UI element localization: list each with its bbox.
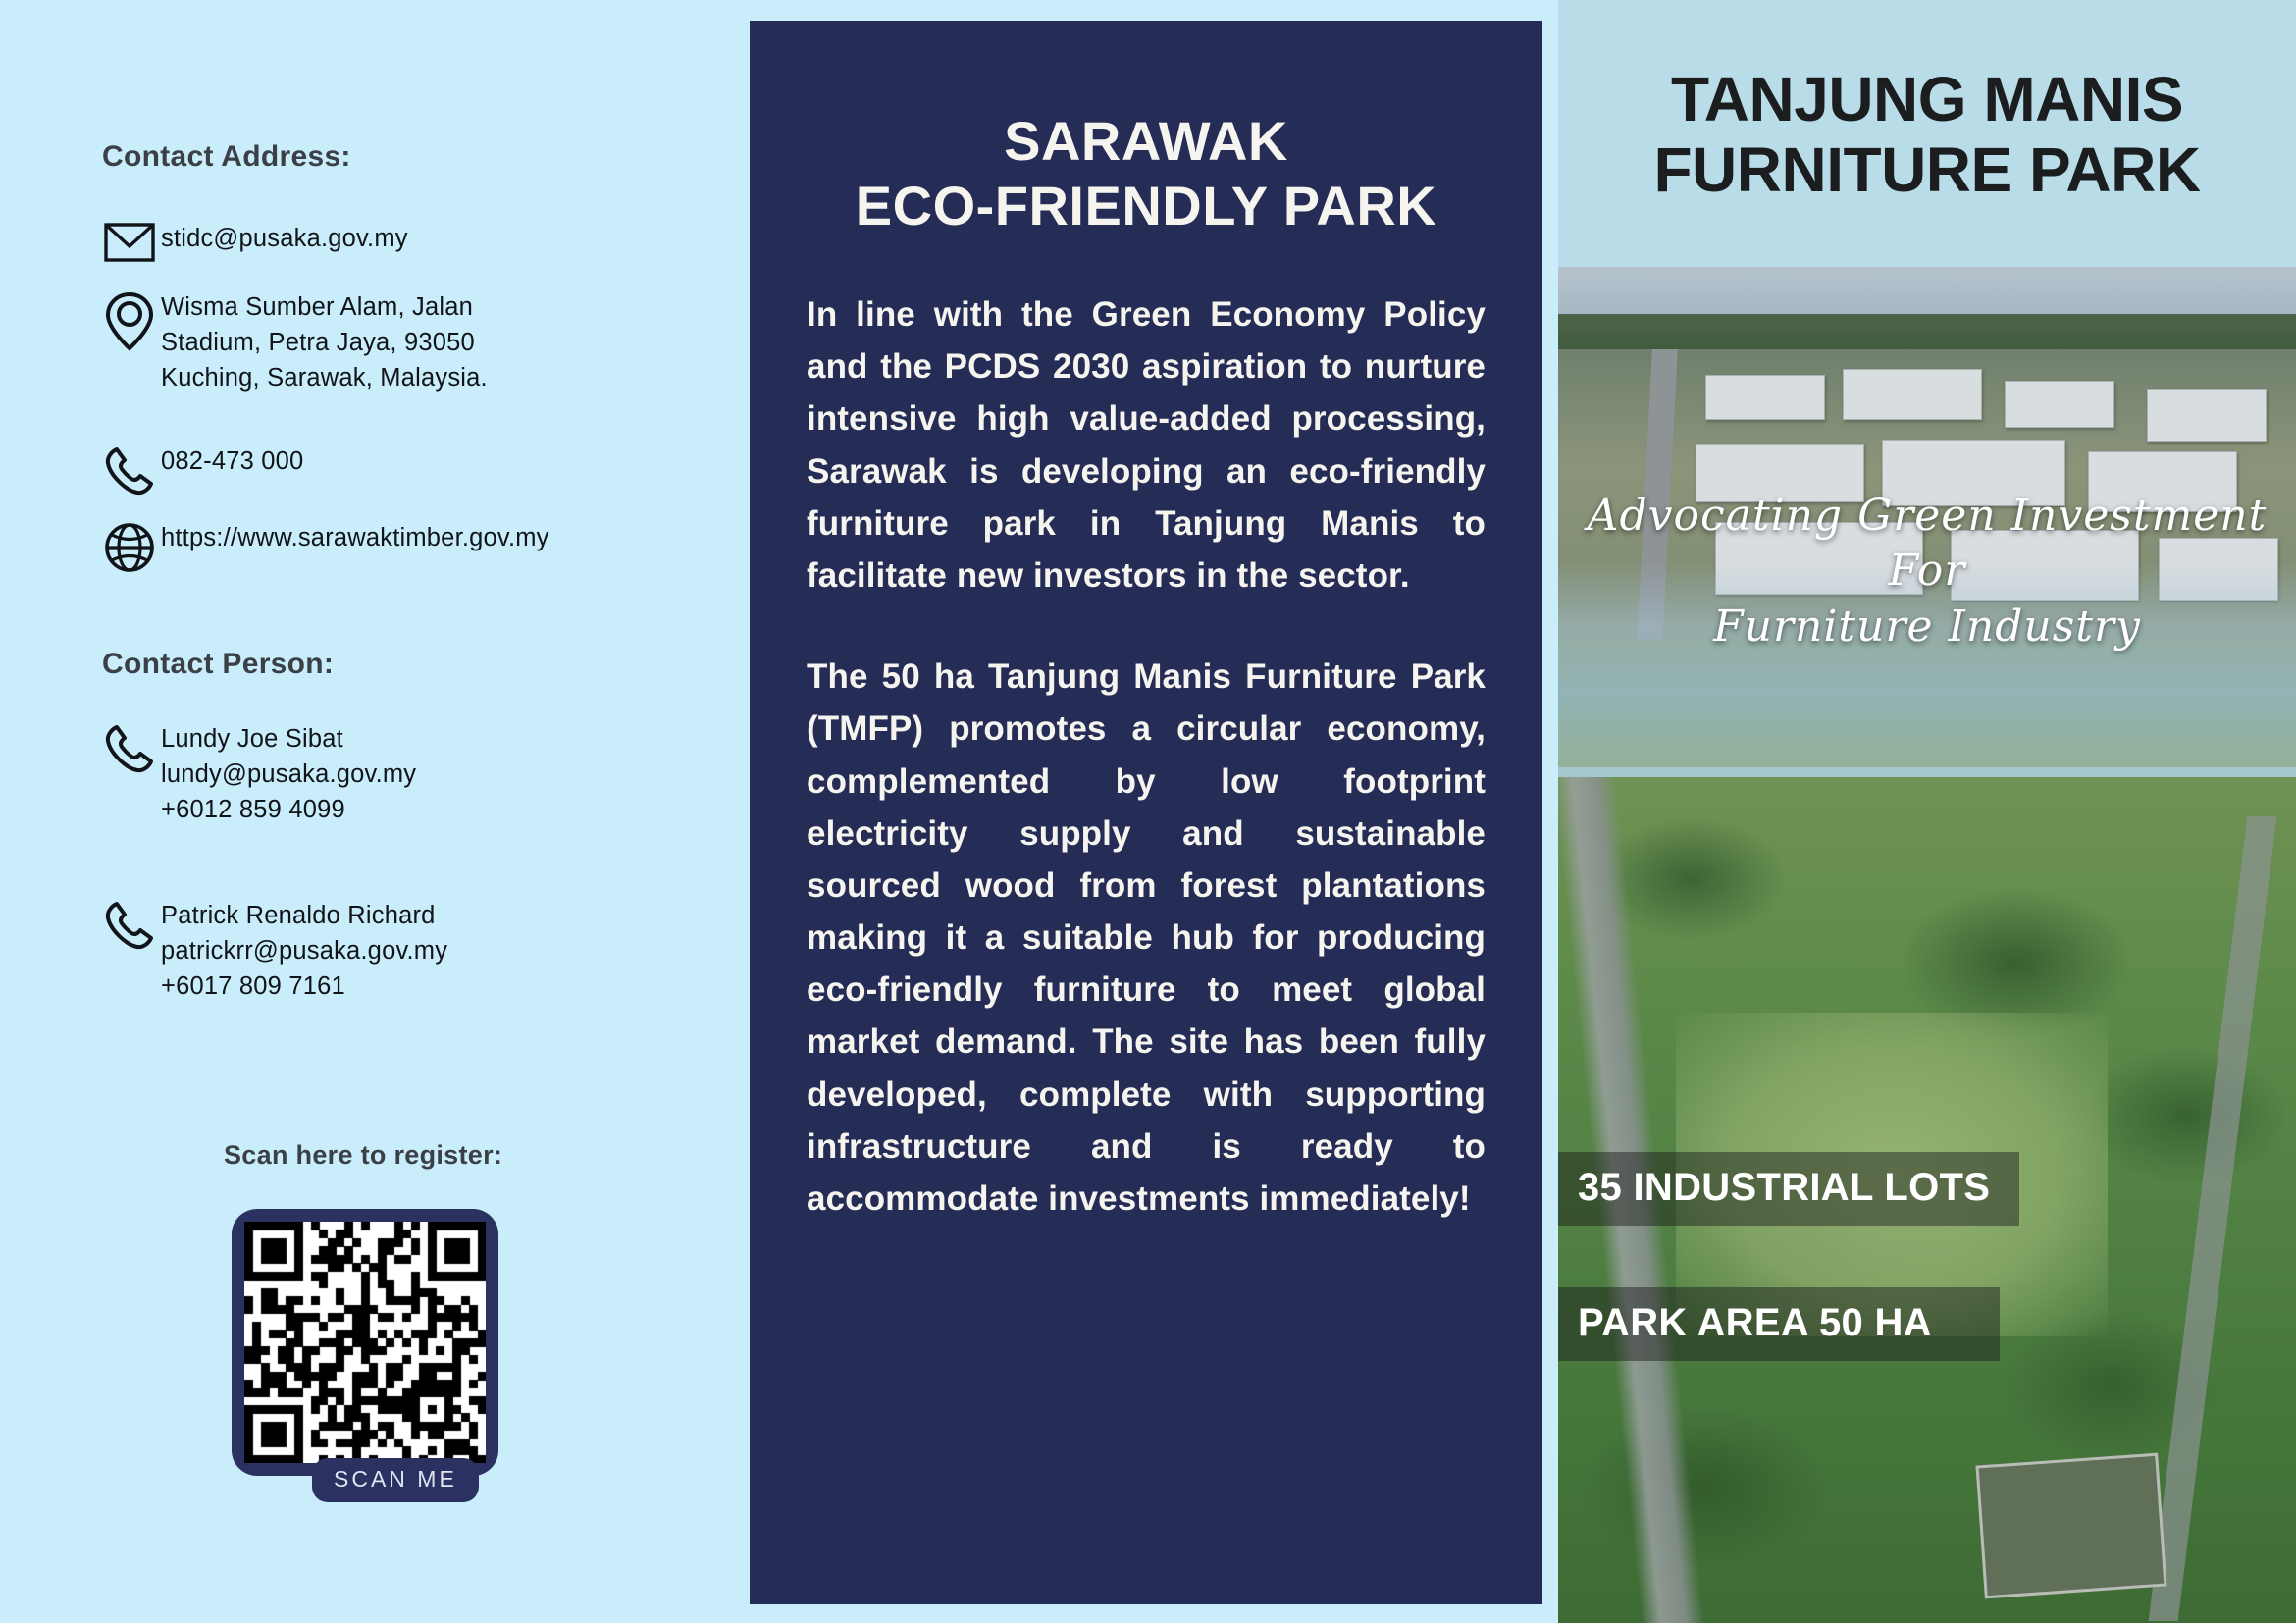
email-address-text[interactable]: stidc@pusaka.gov.my	[161, 221, 408, 256]
phone-icon	[98, 898, 161, 951]
brochure-page: Contact Address: stidc@pusaka.gov.my Wis…	[0, 0, 2296, 1623]
industrial-lots-badge: 35 INDUSTRIAL LOTS	[1558, 1152, 2019, 1226]
cover-title-line-2: FURNITURE PARK	[1558, 135, 2296, 206]
phone-icon	[98, 444, 161, 497]
tagline: Advocating Green Investment For Furnitur…	[1558, 489, 2296, 654]
qr-code-image[interactable]	[244, 1222, 486, 1463]
person-2-email[interactable]: patrickrr@pusaka.gov.my	[161, 933, 447, 969]
cover-title: TANJUNG MANIS FURNITURE PARK	[1558, 65, 2296, 205]
cover-title-line-1: TANJUNG MANIS	[1671, 64, 2183, 134]
cover-panel: TANJUNG MANIS FURNITURE PARK	[1558, 0, 2296, 1623]
contact-person-2-details: Patrick Renaldo Richard patrickrr@pusaka…	[161, 898, 447, 1005]
contact-row-address: Wisma Sumber Alam, Jalan Stadium, Petra …	[98, 289, 706, 432]
tagline-line-1: Advocating Green Investment For	[1588, 491, 2268, 596]
contact-person-2: Patrick Renaldo Richard patrickrr@pusaka…	[98, 898, 706, 1005]
middle-paragraph-2: The 50 ha Tanjung Manis Furniture Park (…	[807, 651, 1486, 1225]
contact-panel: Contact Address: stidc@pusaka.gov.my Wis…	[0, 0, 750, 1623]
envelope-icon	[98, 221, 161, 262]
contact-row-phone: 082-473 000	[98, 444, 687, 497]
contact-person-heading: Contact Person:	[102, 648, 334, 681]
globe-icon	[98, 520, 161, 573]
park-area-badge: PARK AREA 50 HA	[1558, 1287, 2000, 1361]
address-line-2: Stadium, Petra Jaya, 93050	[161, 325, 632, 360]
address-text: Wisma Sumber Alam, Jalan Stadium, Petra …	[161, 289, 632, 432]
middle-panel-title: SARAWAK ECO-FRIENDLY PARK	[807, 109, 1486, 237]
contact-row-email: stidc@pusaka.gov.my	[98, 221, 687, 262]
middle-paragraph-1: In line with the Green Economy Policy an…	[807, 288, 1486, 602]
phone-icon	[98, 721, 161, 774]
qr-code[interactable]	[232, 1209, 498, 1476]
middle-title-line-2: ECO-FRIENDLY PARK	[807, 174, 1486, 238]
person-2-name: Patrick Renaldo Richard	[161, 898, 447, 933]
person-1-name: Lundy Joe Sibat	[161, 721, 416, 757]
website-url-text[interactable]: https://www.sarawaktimber.gov.my	[161, 520, 549, 555]
person-1-email[interactable]: lundy@pusaka.gov.my	[161, 757, 416, 792]
contact-person-1: Lundy Joe Sibat lundy@pusaka.gov.my +601…	[98, 721, 706, 828]
address-line-3: Kuching, Sarawak, Malaysia.	[161, 360, 632, 395]
map-pin-icon	[98, 289, 161, 352]
person-2-phone[interactable]: +6017 809 7161	[161, 969, 447, 1004]
contact-person-1-details: Lundy Joe Sibat lundy@pusaka.gov.my +601…	[161, 721, 416, 828]
person-1-phone[interactable]: +6012 859 4099	[161, 792, 416, 827]
scan-here-heading: Scan here to register:	[224, 1140, 502, 1171]
photo-building	[2005, 381, 2114, 428]
phone-number-text[interactable]: 082-473 000	[161, 444, 303, 479]
address-line-1: Wisma Sumber Alam, Jalan	[161, 289, 632, 325]
contact-row-website: https://www.sarawaktimber.gov.my	[98, 520, 726, 573]
tagline-line-2: Furniture Industry	[1558, 600, 2296, 654]
scan-me-badge: SCAN ME	[312, 1458, 479, 1502]
photo-building	[1843, 369, 1982, 420]
photo-facility-building	[1975, 1453, 2166, 1599]
aerial-photo: Advocating Green Investment For Furnitur…	[1558, 267, 2296, 1623]
middle-title-line-1: SARAWAK	[1004, 110, 1288, 172]
photo-building	[1705, 375, 1825, 420]
contact-address-heading: Contact Address:	[102, 140, 351, 174]
photo-building	[2147, 389, 2267, 442]
description-panel: SARAWAK ECO-FRIENDLY PARK In line with t…	[750, 21, 1542, 1604]
